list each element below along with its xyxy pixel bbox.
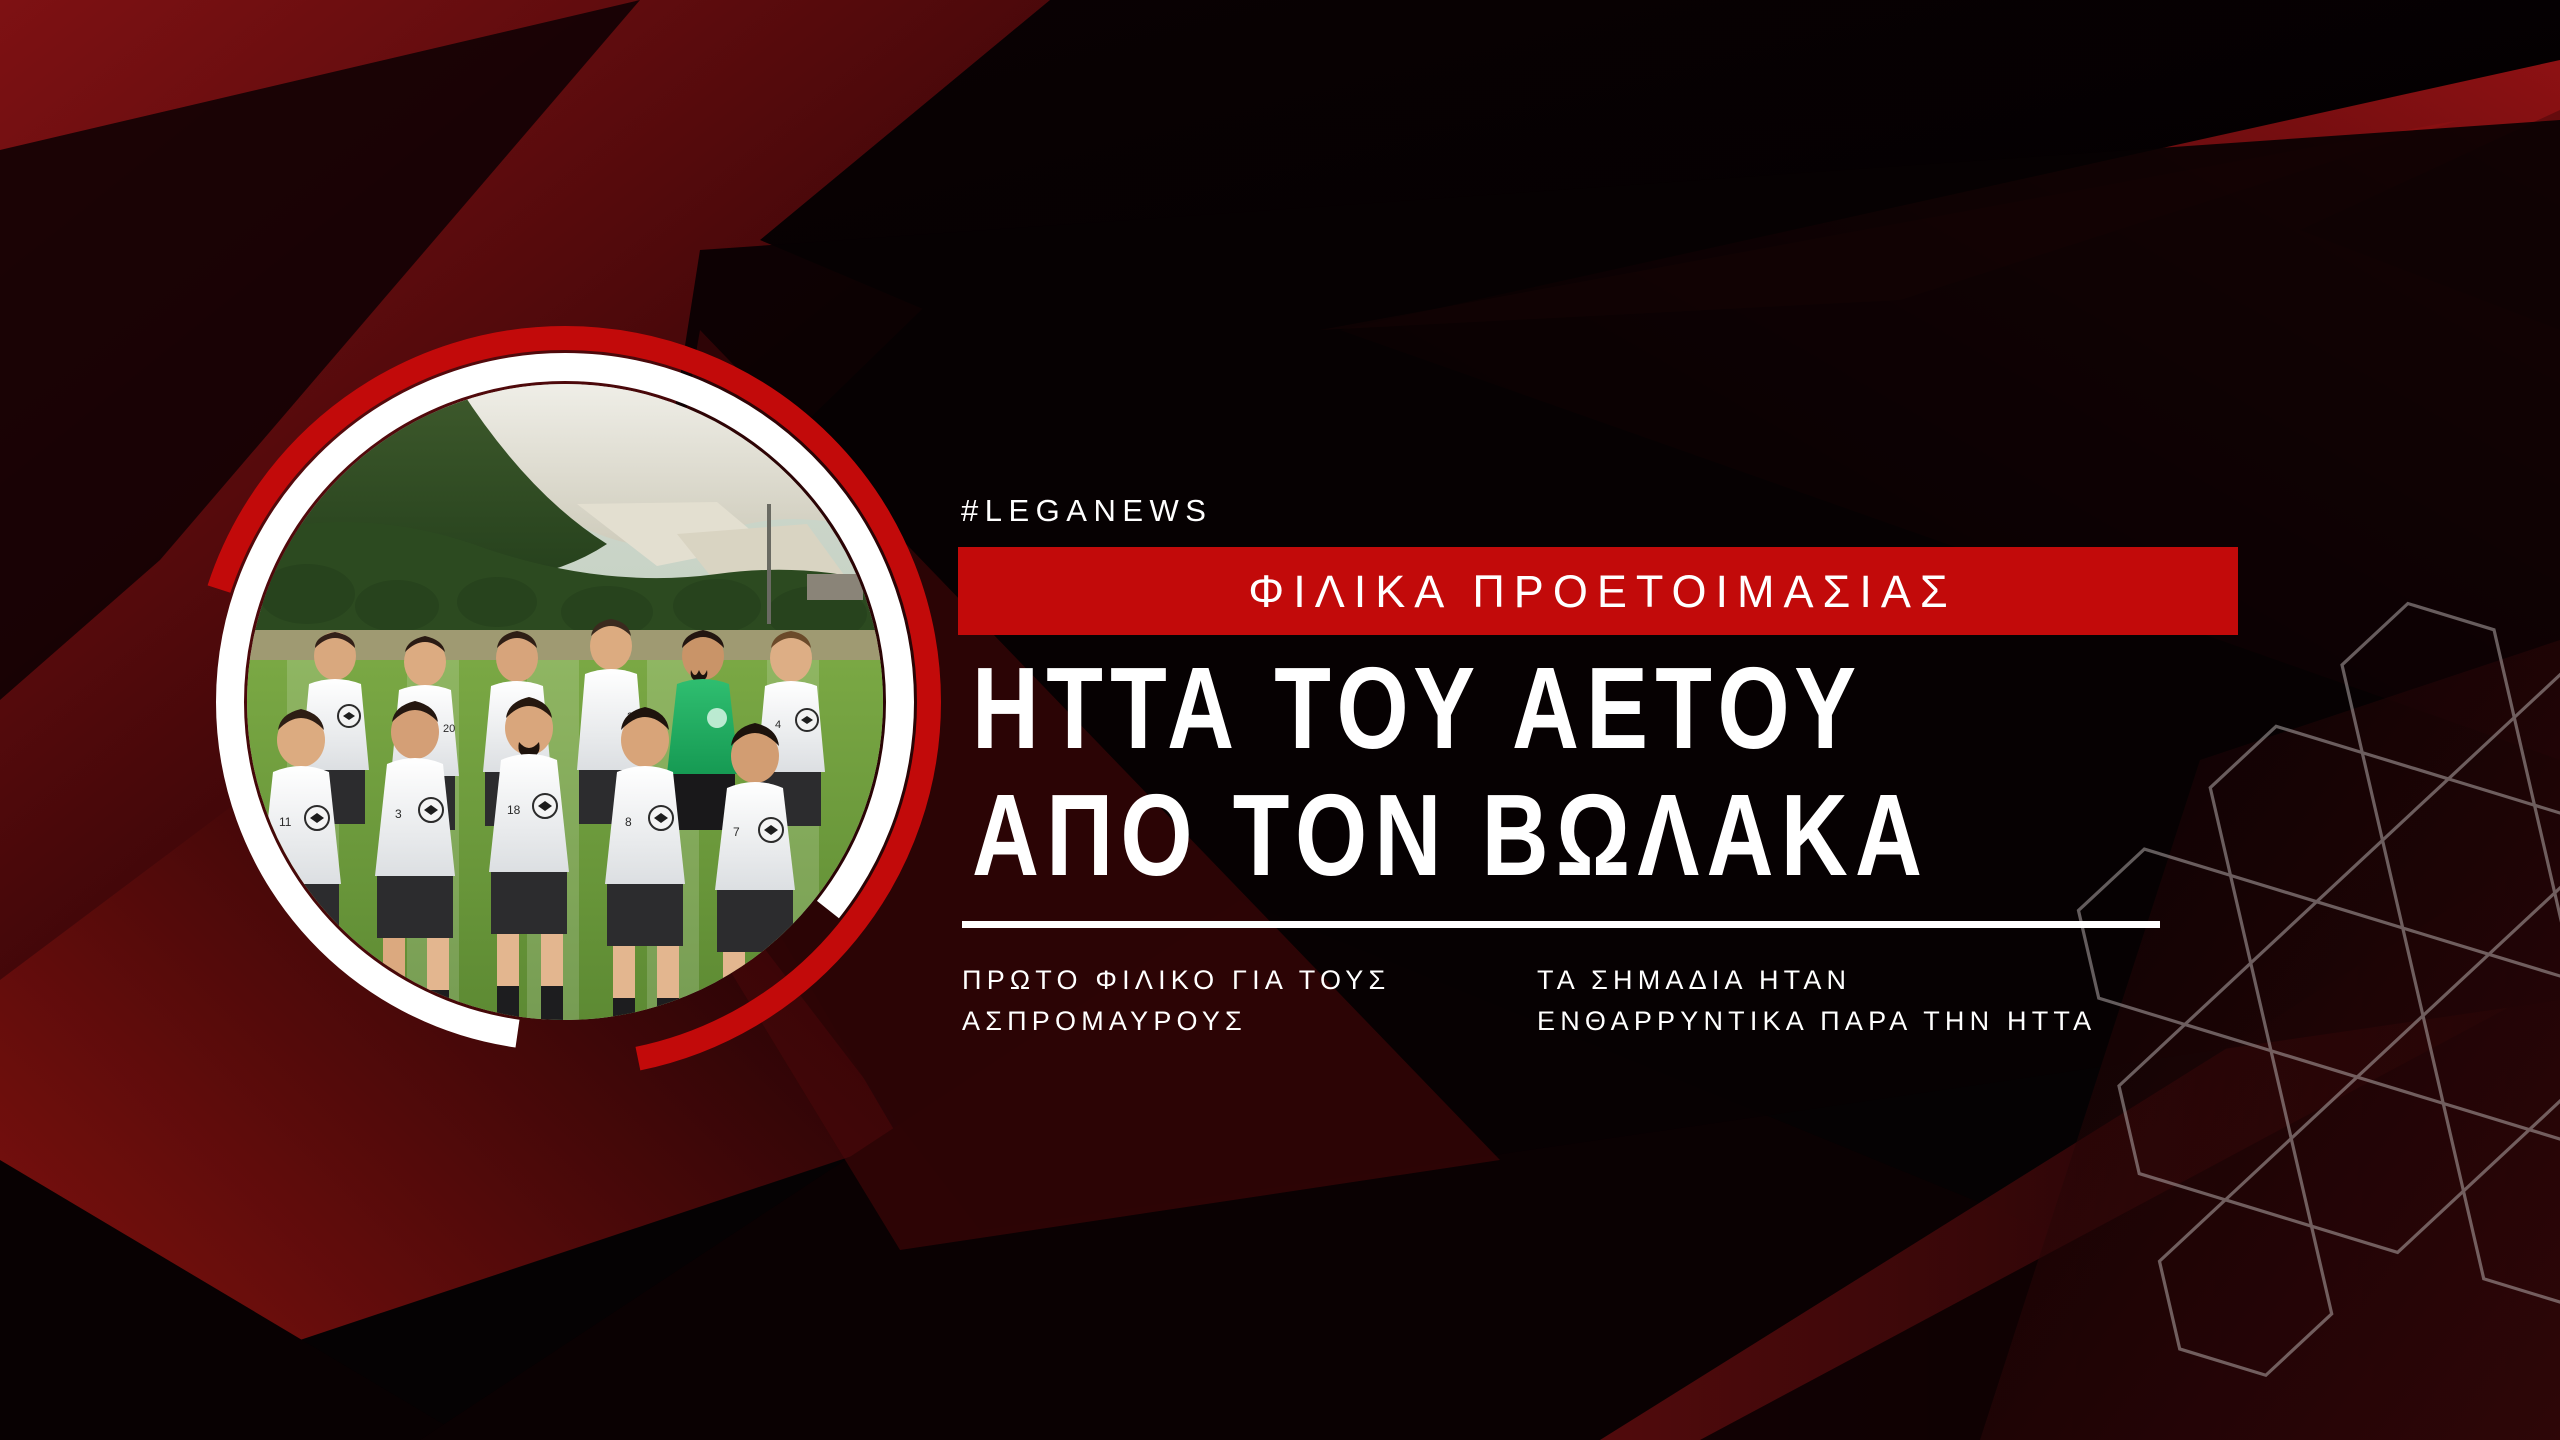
svg-text:7: 7	[733, 825, 740, 839]
headline-block: #LEGANEWS ΦΙΛΙΚΑ ΠΡΟΕΤΟΙΜΑΣΙΑΣ ΗΤΤΑ ΤΟΥ …	[958, 495, 2248, 1042]
team-photo-circle: 20 10	[185, 322, 945, 1082]
kicker-label: ΦΙΛΙΚΑ ΠΡΟΕΤΟΙΜΑΣΙΑΣ	[1239, 569, 1956, 614]
subtitle-right-line-2: ΕΝΘΑΡΡΥΝΤΙΚΑ ΠΑΡΑ ΤΗΝ ΗΤΤΑ	[1537, 1001, 2096, 1042]
subtitle-right: ΤΑ ΣΗΜΑΔΙΑ ΗΤΑΝ ΕΝΘΑΡΡΥΝΤΙΚΑ ΠΑΡΑ ΤΗΝ ΗΤ…	[1537, 960, 2096, 1042]
sports-news-graphic: 20 10	[0, 0, 2560, 1440]
hashtag-leganews: #LEGANEWS	[961, 495, 2248, 526]
svg-text:4: 4	[775, 719, 781, 731]
svg-text:20: 20	[443, 723, 455, 735]
kicker-banner: ΦΙΛΙΚΑ ΠΡΟΕΤΟΙΜΑΣΙΑΣ	[958, 547, 2238, 635]
svg-text:8: 8	[625, 815, 632, 829]
headline-line-1: ΗΤΤΑ ΤΟΥ ΑΕΤΟΥ	[972, 661, 1993, 756]
subtitle-left-line-1: ΠΡΩΤΟ ΦΙΛΙΚΟ ΓΙΑ ΤΟΥΣ	[962, 960, 1537, 1001]
subtitle-row: ΠΡΩΤΟ ΦΙΛΙΚΟ ΓΙΑ ΤΟΥΣ ΑΣΠΡΟΜΑΥΡΟΥΣ ΤΑ ΣΗ…	[962, 960, 2248, 1042]
svg-text:18: 18	[507, 803, 521, 817]
divider-rule	[962, 921, 2160, 928]
squad-photo: 20 10	[247, 384, 883, 1020]
svg-text:3: 3	[395, 807, 402, 821]
subtitle-left-line-2: ΑΣΠΡΟΜΑΥΡΟΥΣ	[962, 1001, 1537, 1042]
svg-text:11: 11	[279, 815, 292, 829]
headline-line-2: ΑΠΟ ΤΟΝ ΒΩΛΑΚΑ	[972, 788, 1993, 883]
subtitle-right-line-1: ΤΑ ΣΗΜΑΔΙΑ ΗΤΑΝ	[1537, 960, 2096, 1001]
subtitle-left: ΠΡΩΤΟ ΦΙΛΙΚΟ ΓΙΑ ΤΟΥΣ ΑΣΠΡΟΜΑΥΡΟΥΣ	[962, 960, 1537, 1042]
